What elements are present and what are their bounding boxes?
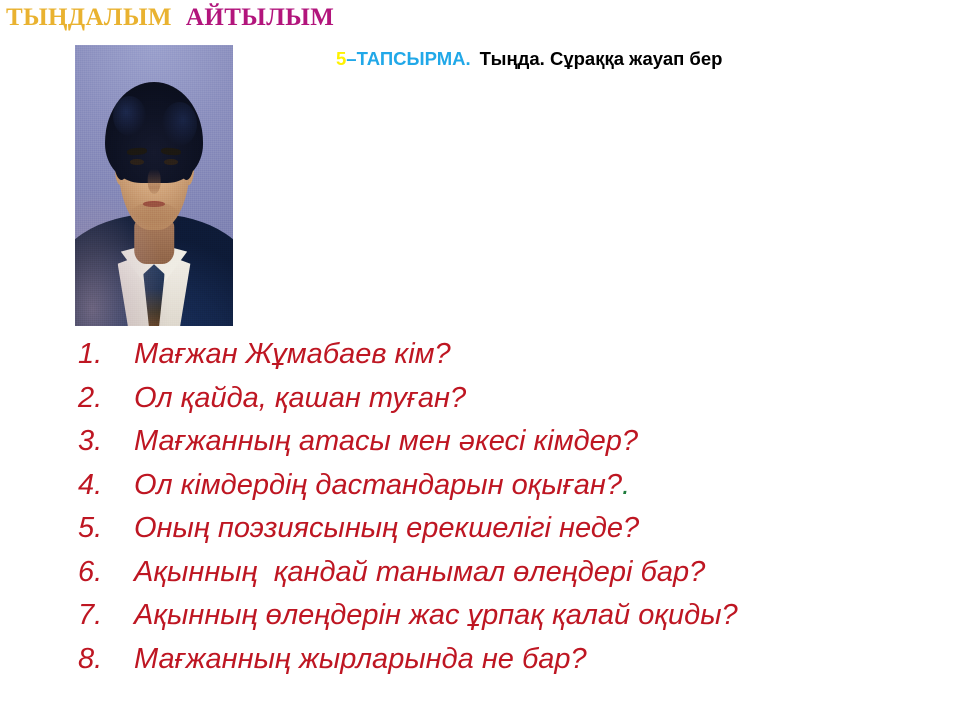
question-item: 8. Мағжанның жырларында не бар? [78,638,938,682]
question-suffix: . [622,464,630,508]
portrait-artwork [75,45,233,326]
question-item: 1. Мағжан Жұмабаев кім? [78,333,938,377]
portrait-nose [148,169,161,194]
question-item: 4. Ол кімдердің дастандарын оқыған? . [78,464,938,508]
question-text: Ақынның қандай танымал өлеңдері бар? [134,551,705,595]
question-text: Мағжанның жырларында не бар? [134,638,587,682]
question-item: 6. Ақынның қандай танымал өлеңдері бар? [78,551,938,595]
question-list: 1. Мағжан Жұмабаев кім? 2. Ол қайда, қаш… [78,333,938,681]
task-number: 5 [336,48,346,69]
header-label-speaking: АЙТЫЛЫМ [186,4,334,31]
portrait-mouth [143,201,165,207]
portrait-necktie [143,264,164,326]
question-number: 3. [78,420,134,464]
question-number: 6. [78,551,134,595]
portrait-collar-left [121,245,148,296]
question-text: Ол қайда, қашан туған? [134,377,466,421]
poet-portrait-image [75,45,233,326]
portrait-jaw-shadow [127,202,181,236]
portrait-suit [75,214,233,326]
portrait-eye-left [130,159,143,166]
portrait-eye-right [164,159,177,166]
question-text: Ақынның өлеңдерін жас ұрпақ қалай оқиды? [134,594,738,638]
header-label-listening: ТЫҢДАЛЫМ [6,4,172,31]
question-text: Мағжан Жұмабаев кім? [134,333,451,377]
question-number: 1. [78,333,134,377]
question-number: 4. [78,464,134,508]
question-item: 5. Оның поэзиясының ерекшелігі неде? [78,507,938,551]
slide-header: ТЫҢДАЛЫМАЙТЫЛЫМ [6,5,334,30]
question-number: 2. [78,377,134,421]
question-number: 5. [78,507,134,551]
task-word-label: –ТАПСЫРМА. [346,48,470,69]
question-item: 3. Мағжанның атасы мен әкесі кімдер? [78,420,938,464]
portrait-hair [105,82,203,183]
portrait-neck [134,219,174,264]
portrait-lapel-left [110,242,145,326]
question-number: 8. [78,638,134,682]
question-item: 2. Ол қайда, қашан туған? [78,377,938,421]
task-instruction-text: Тыңда. Сұраққа жауап бер [480,48,723,69]
question-number: 7. [78,594,134,638]
question-item: 7. Ақынның өлеңдерін жас ұрпақ қалай оқи… [78,594,938,638]
question-text: Ол кімдердің дастандарын оқыған? [134,464,622,508]
question-text: Оның поэзиясының ерекшелігі неде? [134,507,639,551]
question-text: Мағжанның атасы мен әкесі кімдер? [134,420,638,464]
task-line: 5–ТАПСЫРМА.Тыңда. Сұраққа жауап бер [336,50,722,69]
